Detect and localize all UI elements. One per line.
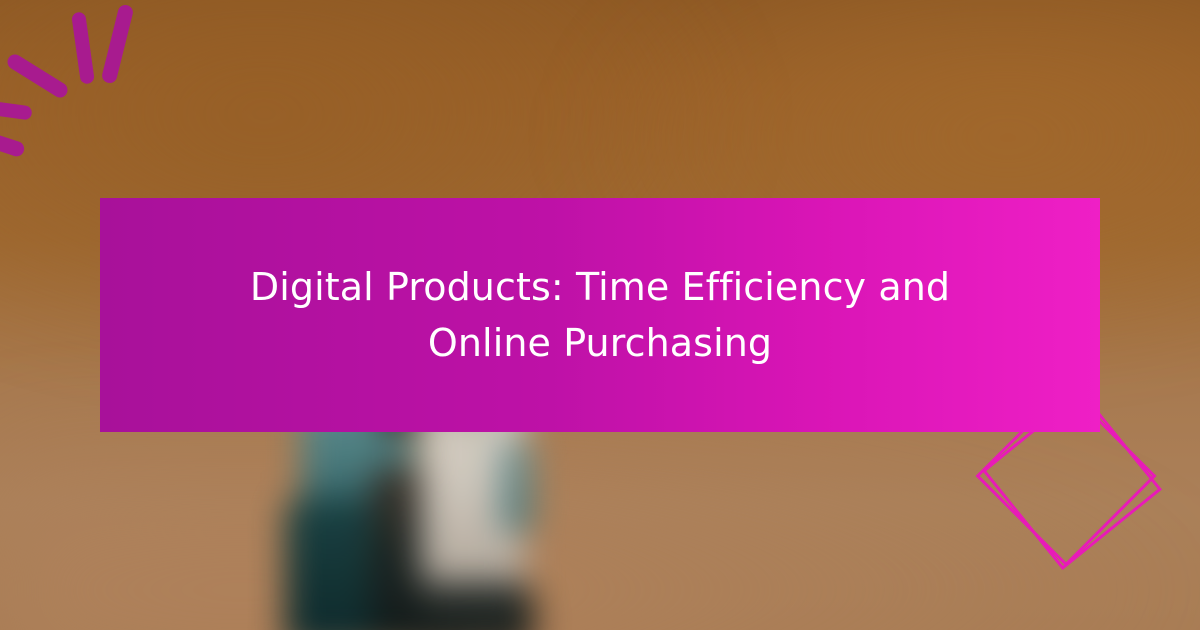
social-card-canvas: Digital Products: Time Efficiency and On… [0,0,1200,630]
sunburst-ray-5 [0,122,26,159]
sunburst-ray-1 [101,3,135,84]
sunburst-icon [0,0,200,180]
title-banner: Digital Products: Time Efficiency and On… [100,198,1100,432]
sunburst-ray-4 [0,97,33,120]
subject-teal-accent [499,438,535,534]
sunburst-ray-2 [71,11,95,84]
sunburst-ray-3 [5,52,71,101]
subject-shadow-base [405,584,535,630]
page-title: Digital Products: Time Efficiency and On… [186,259,1014,371]
